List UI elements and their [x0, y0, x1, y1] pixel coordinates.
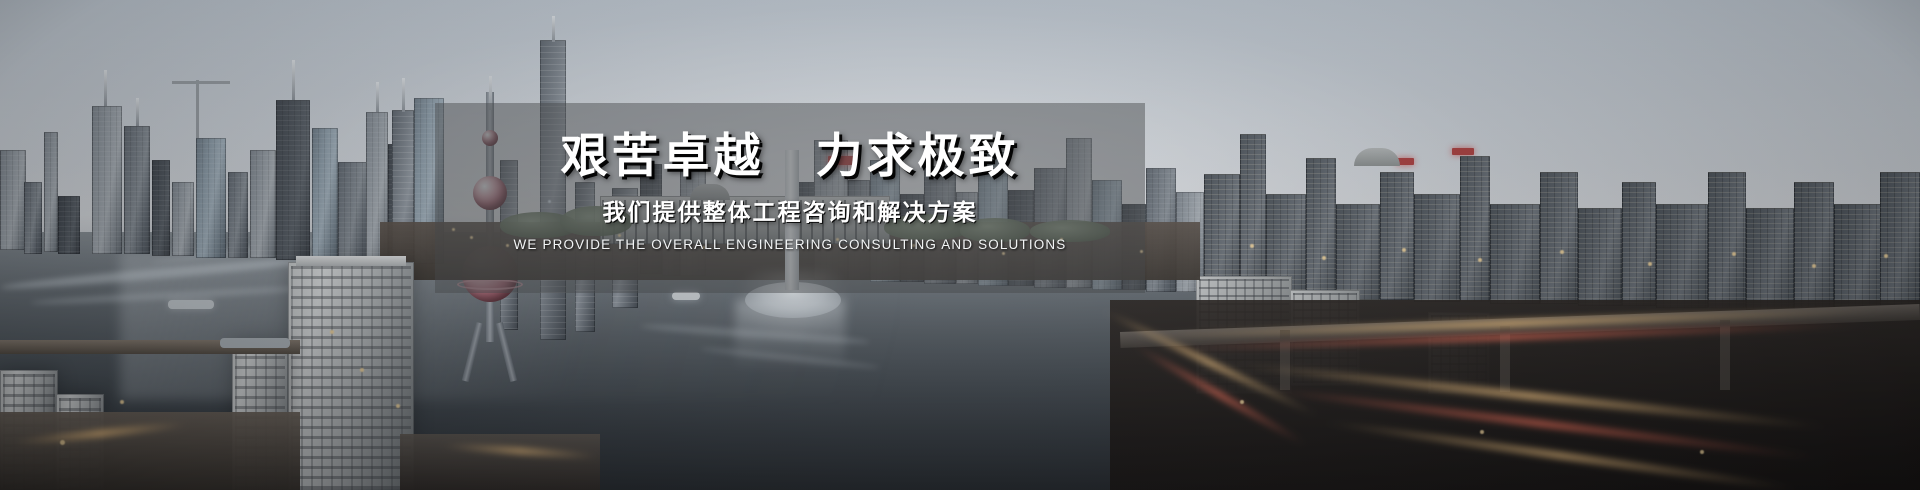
building-twin-a — [92, 106, 122, 254]
building-twin-b — [124, 126, 150, 254]
banner-subtitle-english: WE PROVIDE THE OVERALL ENGINEERING CONSU… — [514, 238, 1067, 252]
banner-headline: 艰苦卓越 力求极致 — [561, 133, 1020, 180]
building-right-17 — [1834, 204, 1884, 312]
building-far-left-4 — [58, 196, 80, 254]
building-far-left-1 — [0, 150, 26, 250]
banner-subtitle-chinese: 我们提供整体工程咨询和解决方案 — [603, 202, 978, 225]
crane-jib-icon — [172, 81, 230, 84]
building-far-left-6 — [172, 182, 194, 256]
banner-text-group: 艰苦卓越 力求极致 我们提供整体工程咨询和解决方案 WE PROVIDE THE… — [435, 103, 1145, 293]
foreground-tower-roof — [296, 256, 406, 266]
building-far-left-3 — [44, 132, 58, 252]
building-right-11 — [1578, 208, 1622, 306]
tower-shanghai-spire — [552, 16, 555, 42]
building-right-5 — [1336, 204, 1380, 300]
foreground-low-roofs — [0, 412, 300, 490]
hero-banner: 艰苦卓越 力求极致 我们提供整体工程咨询和解决方案 WE PROVIDE THE… — [0, 0, 1920, 490]
monument-reflection — [735, 300, 845, 370]
crane-mast-icon — [196, 80, 199, 138]
building-right-8 — [1460, 156, 1490, 302]
building-far-left-10 — [276, 100, 310, 260]
building-right-10 — [1540, 172, 1578, 304]
rooftop-red-sign-3 — [1452, 148, 1474, 155]
building-right-18 — [1880, 172, 1920, 312]
building-right-6 — [1380, 172, 1414, 300]
building-far-left-11 — [312, 128, 338, 260]
tower-jinmao-spire — [402, 78, 405, 112]
boat-1 — [672, 292, 700, 300]
building-far-left-9 — [250, 150, 276, 258]
boat-3 — [220, 338, 290, 348]
highway-pier — [1280, 330, 1290, 390]
antenna-spire — [376, 82, 379, 112]
building-right-2 — [1240, 134, 1266, 294]
building-right-9 — [1490, 204, 1540, 304]
building-right-7 — [1414, 194, 1460, 302]
boat-2 — [168, 300, 214, 309]
antenna-spire — [292, 60, 295, 100]
building-far-left-8 — [228, 172, 248, 258]
building-right-4 — [1306, 158, 1336, 298]
foreground-low-roofs-2 — [400, 434, 600, 490]
building-far-left-2 — [24, 182, 42, 254]
building-far-left-5 — [152, 160, 170, 256]
building-right-16 — [1794, 182, 1834, 310]
building-far-left-12 — [338, 162, 368, 262]
building-right-12 — [1622, 182, 1656, 306]
building-right-14 — [1708, 172, 1746, 308]
building-right-13 — [1656, 204, 1708, 308]
antenna-spire — [136, 98, 139, 126]
building-far-left-7 — [196, 138, 226, 258]
building-right-15 — [1746, 208, 1794, 310]
foreground-tower-main — [288, 262, 414, 490]
antenna-spire — [104, 70, 107, 106]
